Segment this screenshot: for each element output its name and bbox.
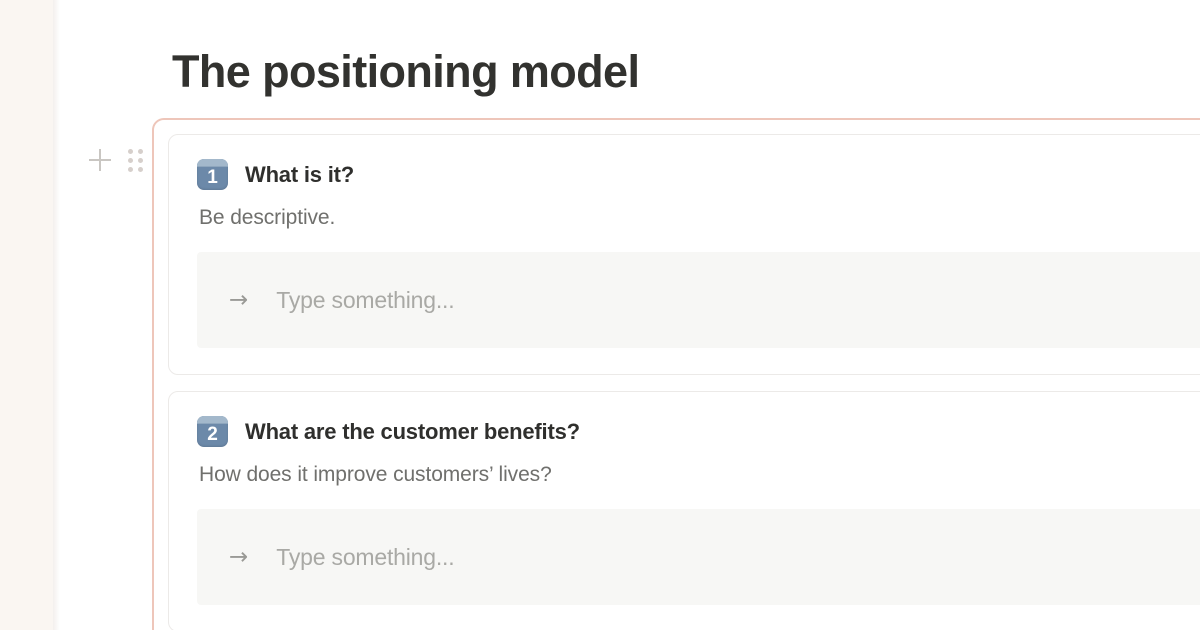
drag-dot — [128, 149, 133, 154]
answer-placeholder: Type something... — [276, 544, 454, 571]
number-badge-icon: 1 — [197, 159, 228, 190]
drag-dot — [128, 158, 133, 163]
question-subtitle: Be descriptive. — [199, 206, 1200, 230]
question-header: 2 What are the customer benefits? — [197, 416, 1200, 447]
answer-placeholder: Type something... — [276, 287, 454, 314]
number-badge-icon: 2 — [197, 416, 228, 447]
drag-handle-icon[interactable] — [128, 149, 142, 171]
answer-input[interactable]: → Type something... — [197, 252, 1200, 348]
drag-dot — [128, 167, 133, 172]
drag-dot — [138, 158, 143, 163]
badge-number: 1 — [197, 165, 228, 190]
left-sidebar — [0, 0, 53, 630]
question-header: 1 What is it? — [197, 159, 1200, 190]
question-card[interactable]: 2 What are the customer benefits? How do… — [168, 391, 1200, 630]
arrow-right-icon: → — [229, 289, 248, 312]
question-title: What is it? — [245, 162, 354, 188]
selected-block-frame[interactable]: 1 What is it? Be descriptive. → Type som… — [152, 118, 1200, 630]
page-title: The positioning model — [172, 46, 639, 98]
badge-number: 2 — [197, 422, 228, 447]
sidebar-shadow-edge — [53, 0, 60, 630]
arrow-right-icon: → — [229, 546, 248, 569]
question-title: What are the customer benefits? — [245, 419, 580, 445]
plus-icon[interactable] — [88, 148, 112, 172]
document-canvas: The positioning model 1 What is it? Be d… — [60, 0, 1200, 630]
drag-dot — [138, 167, 143, 172]
block-controls — [88, 148, 142, 172]
answer-input[interactable]: → Type something... — [197, 509, 1200, 605]
drag-dot — [138, 149, 143, 154]
question-card[interactable]: 1 What is it? Be descriptive. → Type som… — [168, 134, 1200, 375]
question-subtitle: How does it improve customers’ lives? — [199, 463, 1200, 487]
